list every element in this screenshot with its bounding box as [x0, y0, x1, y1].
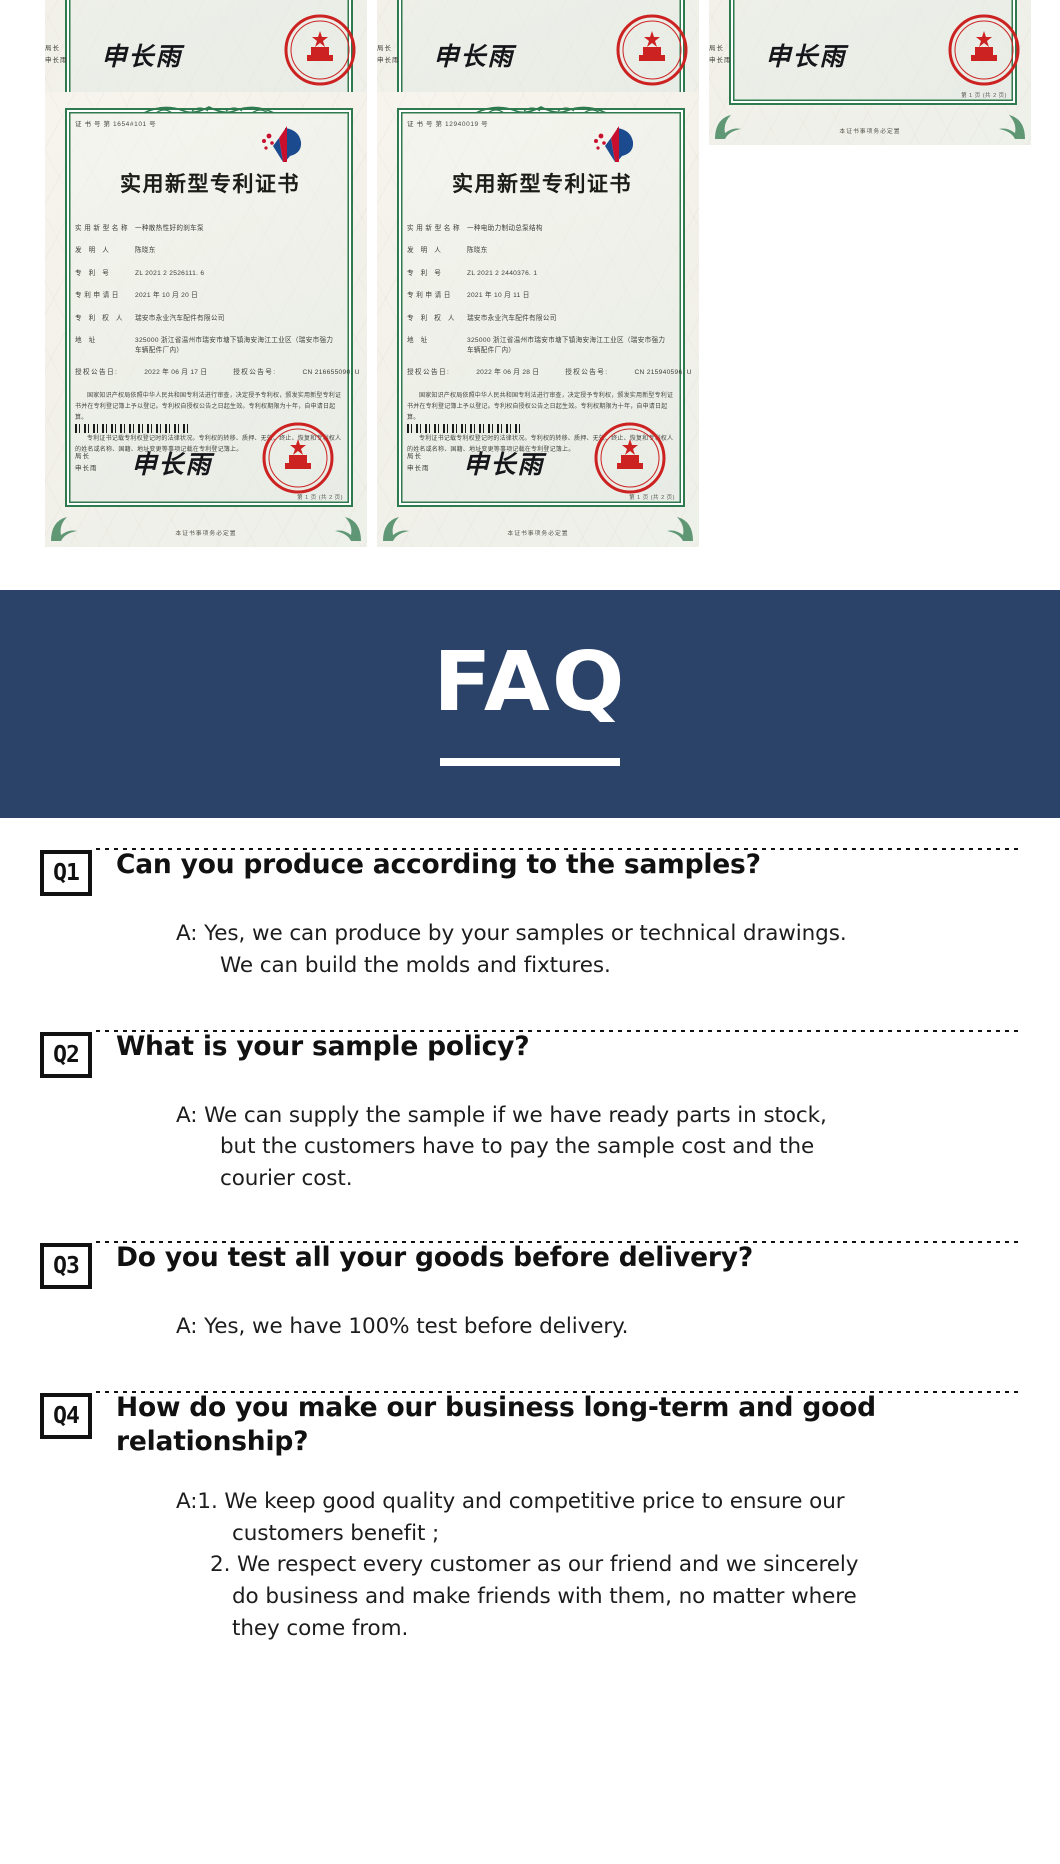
- field-value: 陈晓东: [135, 246, 156, 256]
- certificate-barcode: [75, 424, 191, 433]
- official-seal-icon: [947, 13, 1021, 87]
- certificate-card[interactable]: 证 书 号 第 1654#101 号 实用新型专利证书: [45, 92, 367, 547]
- certificate-signer-title: 局长 申长雨: [709, 43, 732, 66]
- certificate-card[interactable]: 证 书 号 第 12940019 号 实用新型专利证书: [377, 92, 699, 547]
- field-value: ZL 2021 2 2440376. 1: [467, 269, 537, 279]
- field-value: 2021 年 10 月 20 日: [135, 291, 198, 301]
- certificate-grant-row: 授权公告日: 2022 年 06 月 17 日 授权公告号: CN 216655…: [75, 368, 345, 378]
- faq-banner: FAQ: [0, 590, 1060, 818]
- handwritten-signature: 申长雨: [102, 37, 183, 73]
- faq-banner-title: FAQ: [433, 642, 626, 724]
- field-label: 专利申请日: [407, 291, 467, 301]
- corner-flourish-icon: [379, 505, 419, 545]
- faq-answer-line: A: Yes, we have 100% test before deliver…: [176, 1311, 966, 1343]
- grant-no-label: 授权公告号:: [565, 368, 608, 378]
- certificate-paragraph: 国家知识产权局依照中华人民共和国专利法进行审查，决定授予专利权，颁发实用新型专利…: [75, 391, 345, 424]
- field-label: 专 利 号: [75, 269, 135, 279]
- faq-item: Q2 What is your sample policy? A: We can…: [40, 982, 1020, 1195]
- faq-badge: Q3: [40, 1243, 92, 1289]
- certificate-field: 专利申请日 2021 年 10 月 11 日: [407, 291, 677, 301]
- patent-office-logo-icon: [249, 122, 311, 166]
- field-value: 325000 浙江省温州市瑞安市塘下镇海安海江工业区（瑞安市强力车辆配件厂内）: [467, 336, 672, 356]
- certificate-field: 地 址 325000 浙江省温州市瑞安市塘下镇海安海江工业区（瑞安市强力车辆配件…: [75, 336, 345, 356]
- corner-flourish-icon: [657, 505, 697, 545]
- faq-item: Q1 Can you produce according to the samp…: [40, 818, 1020, 982]
- faq-badge: Q2: [40, 1032, 92, 1078]
- faq-answer: A:1. We keep good quality and competitiv…: [176, 1486, 966, 1645]
- grant-no-value: CN 216655090. U: [302, 368, 359, 378]
- certificate-field-list: 实用新型名称 一种散热性好的刹车泵 发 明 人 陈晓东 专 利 号 ZL 202…: [75, 224, 345, 378]
- faq-divider: [96, 848, 1020, 850]
- field-value: 陈晓东: [467, 246, 488, 256]
- certificate-title: 实用新型专利证书: [75, 168, 345, 198]
- certificate-caption: 本证书事项务必定置: [377, 528, 699, 537]
- faq-answer-line: 2. We respect every customer as our frie…: [176, 1549, 966, 1581]
- signer-role: 局长: [407, 453, 422, 460]
- grant-no-value: CN 215940596. U: [634, 368, 691, 378]
- certificate-body: 证 书 号 第 12940019 号 实用新型专利证书: [407, 118, 677, 499]
- certificate-field: 发 明 人 陈晓东: [75, 246, 345, 256]
- faq-question-row[interactable]: Q2 What is your sample policy?: [40, 1030, 1020, 1078]
- certificate-paragraph: 国家知识产权局依照中华人民共和国专利法进行审查，决定授予专利权，颁发实用新型专利…: [407, 391, 677, 424]
- signer-name: 申长雨: [45, 57, 68, 64]
- field-label: 专利申请日: [75, 291, 135, 301]
- signer-name: 申长雨: [407, 465, 430, 472]
- faq-divider: [96, 1241, 1020, 1243]
- faq-item: Q4 How do you make our business long-ter…: [40, 1343, 1020, 1645]
- certificate-body: 证 书 号 第 1654#101 号 实用新型专利证书: [75, 118, 345, 499]
- grant-date-label: 授权公告日:: [407, 368, 450, 378]
- certificate-grant-row: 授权公告日: 2022 年 06 月 28 日 授权公告号: CN 215940…: [407, 368, 677, 378]
- patent-office-logo-icon: [581, 122, 643, 166]
- certificate-caption: 本证书事项务必定置: [45, 528, 367, 537]
- certificate-title: 实用新型专利证书: [407, 168, 677, 198]
- faq-badge: Q4: [40, 1393, 92, 1439]
- certificate-page-number: 第 1 页 (共 2 页): [297, 493, 343, 501]
- official-seal-icon: [261, 421, 335, 495]
- faq-question: Can you produce according to the samples…: [116, 848, 761, 882]
- signer-role: 局长: [709, 45, 724, 52]
- signer-role: 局长: [75, 453, 90, 460]
- product-detail-page: 证书号第1654#101号 实用新型专利证书: [0, 0, 1060, 1864]
- faq-divider: [96, 1391, 1020, 1393]
- certificate-field: 专 利 权 人 瑞安市永业汽车配件有限公司: [75, 314, 345, 324]
- certificate-field: 专 利 号 ZL 2021 2 2440376. 1: [407, 269, 677, 279]
- certificate-field: 地 址 325000 浙江省温州市瑞安市塘下镇海安海江工业区（瑞安市强力车辆配件…: [407, 336, 677, 356]
- grant-no-label: 授权公告号:: [233, 368, 276, 378]
- faq-question-row[interactable]: Q1 Can you produce according to the samp…: [40, 848, 1020, 896]
- field-value: 瑞安市永业汽车配件有限公司: [467, 314, 557, 324]
- handwritten-signature: 申长雨: [434, 37, 515, 73]
- field-label: 地 址: [407, 336, 467, 356]
- faq-answer-line: A: We can supply the sample if we have r…: [176, 1100, 966, 1132]
- faq-answer-line: A: Yes, we can produce by your samples o…: [176, 918, 966, 950]
- faq-answer-line: customers benefit ;: [176, 1518, 966, 1550]
- faq-answer-line: do business and make friends with them, …: [176, 1581, 966, 1613]
- certificate-field: 实用新型名称 一种电助力制动总泵结构: [407, 224, 677, 234]
- faq-answer-line: they come from.: [176, 1613, 966, 1645]
- certificate-field: 专 利 号 ZL 2021 2 2526111. 6: [75, 269, 345, 279]
- grant-date-value: 2022 年 06 月 28 日: [476, 368, 539, 378]
- official-seal-icon: [283, 13, 357, 87]
- field-label: 发 明 人: [75, 246, 135, 256]
- field-label: 发 明 人: [407, 246, 467, 256]
- field-value: ZL 2021 2 2526111. 6: [135, 269, 204, 279]
- handwritten-signature: 申长雨: [464, 445, 545, 481]
- certificate-field: 专利申请日 2021 年 10 月 20 日: [75, 291, 345, 301]
- official-seal-icon: [593, 421, 667, 495]
- faq-answer-line: A:1. We keep good quality and competitiv…: [176, 1486, 966, 1518]
- certificate-row-bottom: 证 书 号 第 1654#101 号 实用新型专利证书: [0, 92, 1060, 547]
- field-value: 325000 浙江省温州市瑞安市塘下镇海安海江工业区（瑞安市强力车辆配件厂内）: [135, 336, 340, 356]
- certificate-gallery: 证书号第1654#101号 实用新型专利证书: [0, 0, 1060, 590]
- field-label: 实用新型名称: [75, 224, 135, 234]
- field-label: 专 利 权 人: [75, 314, 135, 324]
- faq-answer-line: but the customers have to pay the sample…: [176, 1131, 966, 1163]
- signer-role: 局长: [45, 45, 60, 52]
- faq-question-row[interactable]: Q4 How do you make our business long-ter…: [40, 1391, 1020, 1460]
- faq-question-row[interactable]: Q3 Do you test all your goods before del…: [40, 1241, 1020, 1289]
- faq-answer: A: Yes, we have 100% test before deliver…: [176, 1311, 966, 1343]
- signer-name: 申长雨: [377, 57, 400, 64]
- faq-banner-underline: [440, 758, 620, 766]
- field-label: 地 址: [75, 336, 135, 356]
- field-value: 一种电助力制动总泵结构: [467, 224, 543, 234]
- certificate-barcode: [407, 424, 523, 433]
- grant-date-label: 授权公告日:: [75, 368, 118, 378]
- corner-flourish-icon: [47, 505, 87, 545]
- certificate-signer-title: 局长 申长雨: [45, 43, 68, 66]
- faq-answer: A: Yes, we can produce by your samples o…: [176, 918, 966, 982]
- certificate-signer-title: 局长 申长雨: [407, 451, 430, 474]
- handwritten-signature: 申长雨: [766, 37, 847, 73]
- faq-question: What is your sample policy?: [116, 1030, 529, 1064]
- field-label: 实用新型名称: [407, 224, 467, 234]
- signer-name: 申长雨: [75, 465, 98, 472]
- faq-answer-line: courier cost.: [176, 1163, 966, 1195]
- certificate-field: 实用新型名称 一种散热性好的刹车泵: [75, 224, 345, 234]
- faq-badge: Q1: [40, 850, 92, 896]
- official-seal-icon: [615, 13, 689, 87]
- signer-role: 局长: [377, 45, 392, 52]
- certificate-field: 专 利 权 人 瑞安市永业汽车配件有限公司: [407, 314, 677, 324]
- certificate-page-number: 第 1 页 (共 2 页): [629, 493, 675, 501]
- certificate-field-list: 实用新型名称 一种电助力制动总泵结构 发 明 人 陈晓东 专 利 号 ZL 20…: [407, 224, 677, 378]
- field-value: 一种散热性好的刹车泵: [135, 224, 204, 234]
- certificate-field: 发 明 人 陈晓东: [407, 246, 677, 256]
- faq-question: How do you make our business long-term a…: [116, 1391, 916, 1460]
- faq-item: Q3 Do you test all your goods before del…: [40, 1195, 1020, 1343]
- corner-flourish-icon: [325, 505, 365, 545]
- faq-answer-line: We can build the molds and fixtures.: [176, 950, 966, 982]
- field-value: 瑞安市永业汽车配件有限公司: [135, 314, 225, 324]
- certificate-signer-title: 局长 申长雨: [377, 43, 400, 66]
- faq-question: Do you test all your goods before delive…: [116, 1241, 753, 1275]
- faq-divider: [96, 1030, 1020, 1032]
- field-value: 2021 年 10 月 11 日: [467, 291, 530, 301]
- handwritten-signature: 申长雨: [132, 445, 213, 481]
- faq-list: Q1 Can you produce according to the samp…: [0, 818, 1060, 1645]
- signer-name: 申长雨: [709, 57, 732, 64]
- certificate-signer-title: 局长 申长雨: [75, 451, 98, 474]
- faq-answer: A: We can supply the sample if we have r…: [176, 1100, 966, 1195]
- grant-date-value: 2022 年 06 月 17 日: [144, 368, 207, 378]
- field-label: 专 利 号: [407, 269, 467, 279]
- field-label: 专 利 权 人: [407, 314, 467, 324]
